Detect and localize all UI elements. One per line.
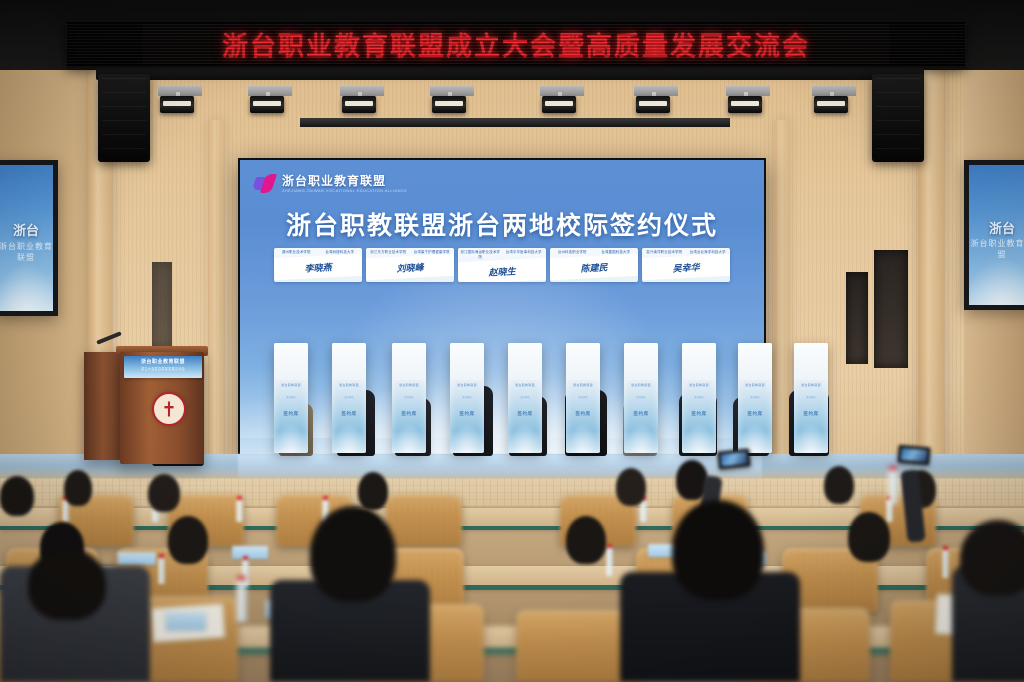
water-bottle-icon	[606, 548, 613, 576]
signing-podium-1: 浙台职教联盟 浙台两地 签约席	[274, 343, 308, 453]
led-banner: 浙台职业教育联盟成立大会暨高质量发展交流会	[66, 20, 966, 68]
side-screen-right: 浙台 浙台职业教育联盟	[964, 160, 1024, 310]
signing-podium-caption: 签约席	[682, 411, 716, 417]
alliance-logo-en: ZHEJIANG-TAIWAN VOCATIONAL EDUCATION ALL…	[282, 189, 407, 193]
signature-card-name: 李晓燕	[274, 253, 362, 280]
audience-head	[358, 472, 388, 510]
signing-podium-line1: 浙台职教联盟	[738, 383, 772, 388]
water-bottle-icon	[236, 500, 243, 522]
stage-spotlight-2	[250, 96, 284, 113]
audience-head	[168, 516, 208, 564]
signature-card-school-left: 浙江国际海运职业技术学院	[459, 250, 502, 259]
stage-spotlight-8	[814, 96, 848, 113]
name-card-icon	[166, 612, 206, 630]
side-screen-left: 浙台 浙台职业教育联盟	[0, 160, 58, 316]
water-bottle-icon	[236, 580, 247, 622]
audience-head	[616, 468, 646, 506]
signature-card: 台州科技职业学院 台湾建国科技大学 陈建民	[550, 248, 638, 282]
light-mount-plate-5	[540, 86, 584, 96]
signature-card: 嘉兴南洋职业技术学院 台湾台北海洋科技大学 吴幸华	[642, 248, 730, 282]
signing-podium-caption: 签约席	[624, 411, 658, 417]
lectern-sign-title: 浙台职业教育联盟	[124, 358, 202, 365]
audience-head	[310, 506, 396, 602]
school-crest-icon	[152, 392, 186, 426]
signing-podium-line2: 浙台两地	[682, 395, 716, 399]
signing-podium-line2: 浙台两地	[566, 395, 600, 399]
signing-podium-caption: 签约席	[794, 411, 828, 417]
audience-head	[148, 474, 180, 512]
signing-podium-line2: 浙台两地	[624, 395, 658, 399]
signing-podium-line1: 浙台职教联盟	[332, 383, 366, 388]
audience-chair	[386, 494, 462, 546]
signing-podium-line2: 浙台两地	[794, 395, 828, 399]
signature-card-name: 吴幸华	[642, 253, 730, 280]
lectern-sign: 浙台职业教育联盟 成立大会暨高质量发展交流会	[124, 356, 202, 378]
signing-podium-line2: 浙台两地	[274, 395, 308, 399]
audience-head	[824, 466, 854, 504]
smartphone-camera-icon[interactable]	[717, 448, 751, 469]
water-bottle-icon	[640, 500, 647, 522]
signing-podium-5: 浙台职教联盟 浙台两地 签约席	[508, 343, 542, 453]
alliance-logo-icon	[254, 174, 276, 194]
signature-card: 浙江东方职业技术学院 台湾康宁护理健康学院 刘晓峰	[366, 248, 454, 282]
stage-spotlight-6	[636, 96, 670, 113]
water-bottle-icon	[158, 558, 165, 584]
light-mount-plate-7	[726, 86, 770, 96]
signing-podium-line1: 浙台职教联盟	[392, 383, 426, 388]
signing-podium-8: 浙台职教联盟 浙台两地 签约席	[682, 343, 716, 453]
signing-podium-line2: 浙台两地	[508, 395, 542, 399]
audience-head	[672, 500, 764, 600]
signature-card-row: 湖州职业技术学院 台湾树德科技大学 李晓燕 浙江东方职业技术学院 台湾康宁护理健…	[274, 248, 730, 282]
signing-podium-caption: 签约席	[508, 411, 542, 417]
name-card-icon	[118, 552, 156, 565]
signing-podium-9: 浙台职教联盟 浙台两地 签约席	[738, 343, 772, 453]
signing-podium-caption: 签约席	[332, 411, 366, 417]
signing-podium-10: 浙台职教联盟 浙台两地 签约席	[794, 343, 828, 453]
signing-podium-caption: 签约席	[450, 411, 484, 417]
water-bottle-icon	[62, 500, 69, 522]
light-mount-plate-2	[248, 86, 292, 96]
side-screen-right-wave	[964, 250, 1024, 310]
lectern-sign-subtitle: 成立大会暨高质量发展交流会	[124, 366, 202, 371]
signature-card-school-left: 浙江东方职业技术学院	[367, 250, 410, 255]
signing-podium-line2: 浙台两地	[738, 395, 772, 399]
signature-card-name: 赵晓生	[458, 258, 546, 282]
light-mount-plate-8	[812, 86, 856, 96]
stage-spotlight-5	[542, 96, 576, 113]
signing-podium-3: 浙台职教联盟 浙台两地 签约席	[392, 343, 426, 453]
signature-card: 湖州职业技术学院 台湾树德科技大学 李晓燕	[274, 248, 362, 282]
signing-podium-line1: 浙台职教联盟	[566, 383, 600, 388]
light-mount-plate-4	[430, 86, 474, 96]
signing-podium-6: 浙台职教联盟 浙台两地 签约席	[566, 343, 600, 453]
light-mount-plate-3	[340, 86, 384, 96]
signature-card-school-left: 嘉兴南洋职业技术学院	[643, 250, 686, 255]
stage-spotlight-1	[160, 96, 194, 113]
signature-card: 浙江国际海运职业技术学院 台湾中华医事科技大学 赵晓生	[458, 248, 546, 282]
line-array-speaker-right	[872, 74, 924, 162]
audience-head	[960, 520, 1024, 596]
signing-podium-caption: 签约席	[566, 411, 600, 417]
signing-podium-caption: 签约席	[738, 411, 772, 417]
signing-podium-line1: 浙台职教联盟	[274, 383, 308, 388]
line-array-speaker-left	[98, 74, 150, 162]
lighting-truss-secondary	[300, 118, 730, 127]
name-card-icon	[232, 546, 268, 559]
wall-alcove-right-2	[874, 250, 908, 368]
audience-head	[0, 476, 34, 516]
signing-podium-line1: 浙台职教联盟	[508, 383, 542, 388]
light-mount-plate-1	[158, 86, 202, 96]
alliance-logo-cn: 浙台职业教育联盟	[282, 175, 407, 187]
water-bottle-icon	[888, 470, 898, 504]
signature-card-school-left: 湖州职业技术学院	[275, 250, 318, 255]
signature-card-school-left: 台州科技职业学院	[551, 250, 594, 255]
wall-pillar-inner-left	[208, 120, 224, 462]
signature-card-name: 刘晓峰	[366, 253, 454, 280]
signing-podium-line2: 浙台两地	[450, 395, 484, 399]
stage-spotlight-4	[432, 96, 466, 113]
ceremony-title: 浙台职教联盟浙台两地校际签约仪式	[240, 206, 764, 242]
signing-podium-7: 浙台职教联盟 浙台两地 签约席	[624, 343, 658, 453]
signing-podium-line1: 浙台职教联盟	[450, 383, 484, 388]
light-mount-plate-6	[634, 86, 678, 96]
water-bottle-icon	[942, 550, 949, 578]
stage-spotlight-3	[342, 96, 376, 113]
audience-head	[566, 516, 606, 564]
signing-podium-caption: 签约席	[274, 411, 308, 417]
signing-podium-line1: 浙台职教联盟	[682, 383, 716, 388]
signing-podium-caption: 签约席	[392, 411, 426, 417]
wall-alcove-right-1	[846, 272, 868, 364]
side-screen-left-title: 浙台	[0, 220, 53, 239]
led-banner-text: 浙台职业教育联盟成立大会暨高质量发展交流会	[222, 26, 810, 63]
signing-podium-line2: 浙台两地	[332, 395, 366, 399]
signing-podium-2: 浙台职教联盟 浙台两地 签约席	[332, 343, 366, 453]
signing-podium-line1: 浙台职教联盟	[794, 383, 828, 388]
wall-alcove-left-1	[152, 262, 172, 348]
signing-podium-line1: 浙台职教联盟	[624, 383, 658, 388]
smartphone-camera-icon[interactable]	[897, 445, 930, 466]
alliance-logo: 浙台职业教育联盟 ZHEJIANG-TAIWAN VOCATIONAL EDUC…	[254, 174, 407, 194]
audience-head	[28, 548, 106, 620]
audience-head	[848, 512, 890, 562]
side-screen-left-wave	[0, 254, 58, 316]
stage-spotlight-7	[728, 96, 762, 113]
side-screen-right-title: 浙台	[969, 218, 1024, 237]
signing-podium-4: 浙台职教联盟 浙台两地 签约席	[450, 343, 484, 453]
signature-card-name: 陈建民	[550, 253, 638, 280]
audience-head	[64, 470, 92, 506]
conference-photo-scene: 浙台职业教育联盟成立大会暨高质量发展交流会 浙台 浙台职业教育联盟 浙台 浙台职…	[0, 0, 1024, 682]
signing-podium-line2: 浙台两地	[392, 395, 426, 399]
